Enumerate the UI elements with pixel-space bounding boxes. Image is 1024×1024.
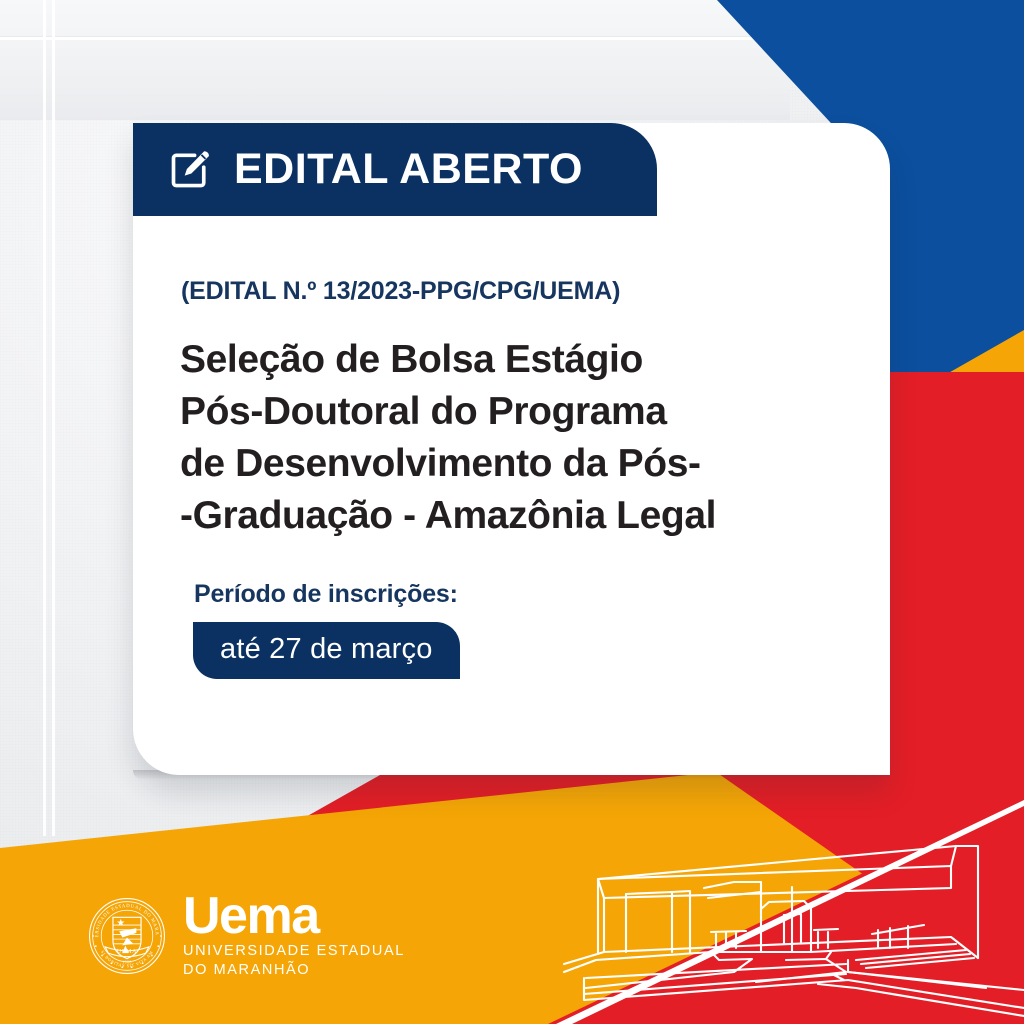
fold-line-vertical-outer	[43, 0, 46, 836]
period-label: Período de inscrições:	[194, 580, 458, 609]
title-line-1: Seleção de Bolsa Estágio	[180, 334, 840, 386]
deadline-badge: até 27 de março	[193, 622, 460, 679]
edit-square-pencil-icon	[168, 148, 212, 192]
uema-wordmark-text: Uema	[183, 893, 405, 941]
header-bar: EDITAL ABERTO	[133, 123, 657, 216]
header-title: EDITAL ABERTO	[234, 148, 583, 191]
title-line-4: -Graduação - Amazônia Legal	[180, 490, 840, 542]
uema-university-seal-icon: UNIVERSIDADE ESTADUAL DO MARANHÃO SI BON…	[88, 897, 166, 975]
title-line-3: de Desenvolvimento da Pós-	[180, 438, 840, 490]
edital-number: (EDITAL N.º 13/2023-PPG/CPG/UEMA)	[181, 277, 620, 306]
poster-canvas: EDITAL ABERTO (EDITAL N.º 13/2023-PPG/CP…	[0, 0, 1024, 1024]
svg-text:1966: 1966	[122, 960, 132, 964]
fold-line-vertical-inner	[52, 0, 55, 836]
uema-wordmark: Uema UNIVERSIDADE ESTADUAL DO MARANHÃO	[183, 893, 405, 979]
uema-logo: UNIVERSIDADE ESTADUAL DO MARANHÃO SI BON…	[88, 893, 405, 979]
paper-fold-band	[0, 0, 790, 120]
svg-text:UEMA: UEMA	[117, 949, 137, 955]
title-line-2: Pós-Doutoral do Programa	[180, 386, 840, 438]
uema-subtitle-line-2: DO MARANHÃO	[183, 962, 405, 979]
uema-subtitle-line-1: UNIVERSIDADE ESTADUAL	[183, 943, 405, 960]
edital-title: Seleção de Bolsa Estágio Pós-Doutoral do…	[180, 334, 840, 542]
